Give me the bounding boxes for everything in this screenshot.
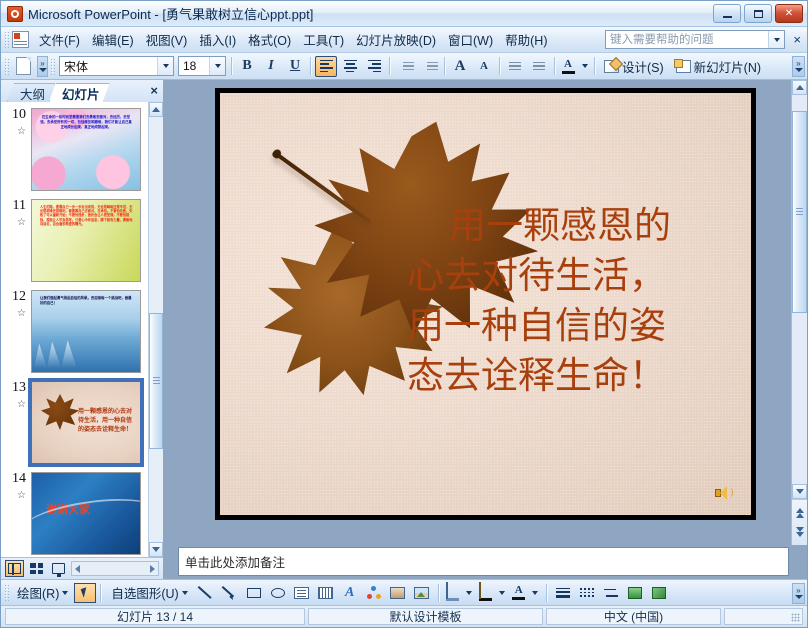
diagram-tool-button[interactable] [363,582,385,603]
rectangle-icon [247,588,261,598]
slide-thumbnail-list[interactable]: 10 ☆ 在生命的一段时间里需要我们去勇敢去面对，去经历，去坚强，去承受所有的一… [1,102,163,557]
next-slide-button[interactable] [796,527,804,537]
draw-menu-button[interactable]: 绘图(R) [11,580,74,605]
oval-icon [271,588,285,598]
slide-number: 10 ☆ [3,108,31,139]
animation-icon: ☆ [3,398,26,412]
font-dropdown-icon[interactable] [157,57,173,75]
separator [554,57,555,75]
3d-style-button[interactable] [648,582,670,603]
thumbnail-text: 谢谢大家 [46,501,90,517]
powerpoint-window: Microsoft PowerPoint - [勇气果敢树立信心ppt.ppt]… [0,0,808,628]
draw-menu-label: 绘图(R) [17,583,59,602]
font-color-dropdown[interactable] [579,56,590,77]
separator [310,57,311,75]
new-slide-button[interactable]: 新幻灯片(N) [670,54,767,79]
line-tool-button[interactable] [195,582,217,603]
shadow-style-button[interactable] [624,582,646,603]
close-pane-icon[interactable]: × [150,83,158,98]
thumbnail-text: 用一颗感恩的心去对待生活，用一种自信的姿态去诠释生命！ [78,408,136,435]
font-name-value: 宋体 [60,58,157,75]
thumbnail-item-11[interactable]: 11 ☆ 人生的路，要靠自己一步一步走出来的，无论是崎岖还是平坦，无论是艰难还是… [1,199,148,282]
ask-a-question-input[interactable] [606,31,768,48]
view-normal-button[interactable] [5,560,24,577]
font-size-dropdown-icon[interactable] [209,57,225,75]
fill-color-icon [446,584,460,601]
design-button[interactable]: 设计(S) [598,54,670,79]
wordart-tool-button[interactable]: A [339,582,361,603]
workspace: 大纲 幻灯片 × 10 ☆ 在生命的一段时间里需要我们去勇敢去面对，去经历，去坚… [1,80,807,579]
autoshapes-button[interactable]: 自选图形(U) [105,580,193,605]
animation-icon: ☆ [3,307,26,321]
toolbar-grip-1[interactable] [4,58,9,75]
drawing-toolbar-options[interactable]: » [792,583,805,604]
status-language: 中文 (中国) [546,608,721,625]
numbering-icon [399,62,412,71]
powerpoint-icon [7,6,23,22]
menu-edit[interactable]: 编辑(E) [86,27,140,52]
dash-style-button[interactable] [576,582,598,603]
close-button[interactable]: ✕ [775,4,803,23]
bullets-icon [423,62,436,71]
menu-grip[interactable] [4,31,9,48]
menu-help[interactable]: 帮助(H) [499,27,553,52]
underline-button[interactable]: U [284,56,306,77]
thumbnail-art: 人生的路，要靠自己一步一步走出来的，无论是崎岖还是平坦，无论是艰难还是顺利，都要… [32,200,140,281]
slide-number: 11 ☆ [3,199,31,230]
separator [389,57,390,75]
menu-window[interactable]: 窗口(W) [442,27,499,52]
window-title: Microsoft PowerPoint - [勇气果敢树立信心ppt.ppt] [28,4,713,23]
menu-slideshow[interactable]: 幻灯片放映(D) [350,27,442,52]
slide-nav-buttons [792,499,807,545]
numbering-button[interactable] [394,56,416,77]
thumbnail-art: 让我们鼓起勇气扬起自信的风帆，去迎接每一个挑战吧，做最好的自己！ [32,291,140,372]
menu-view[interactable]: 视图(V) [140,27,194,52]
chevron-down-icon [182,591,188,595]
thumbnail-art: 在生命的一段时间里需要我们去勇敢去面对，去经历，去坚强，去承受所有的一切，包括痛… [32,109,140,190]
rectangle-tool-button[interactable] [243,582,265,603]
toolbar-options-1[interactable]: » [37,56,48,77]
thumbnail-item-12[interactable]: 12 ☆ 让我们鼓起勇气扬起自信的风帆，去迎接每一个挑战吧，做最好的自己！ [1,290,148,373]
slide-vertical-scrollbar[interactable] [791,80,807,545]
bullets-button[interactable] [418,56,440,77]
tab-outline[interactable]: 大纲 [7,83,55,102]
animation-icon: ☆ [3,489,26,503]
separator [231,57,232,75]
drawing-font-color-button[interactable]: A [510,582,528,603]
font-size-combo[interactable]: 18 [178,56,226,76]
font-color-icon: A [562,59,575,74]
wordart-icon: A [345,586,354,600]
animation-icon: ☆ [3,125,26,139]
arrow-style-icon [604,587,618,599]
status-bar: 幻灯片 13 / 14 默认设计模板 中文 (中国) [1,605,807,627]
vertical-text-box-tool-button[interactable] [315,582,337,603]
arrow-icon [223,586,236,599]
vertical-text-box-icon [318,587,333,599]
slide-scroll-thumb[interactable] [792,111,807,313]
slide-scroll-up-button[interactable] [792,80,807,95]
slide-number: 13 ☆ [3,381,31,412]
new-slide-icon [676,60,691,73]
font-color-icon: A [512,585,525,600]
thumbnail-frame[interactable]: 谢谢大家 [31,472,141,555]
status-template: 默认设计模板 [308,608,543,625]
decrease-font-icon: A [480,60,488,72]
drawing-toolbar-grip[interactable] [4,584,9,601]
document-icon [12,31,29,48]
slide-line-2: 心去对待生活， [407,251,737,301]
toolbar-options-2[interactable]: » [792,56,805,77]
align-left-icon [320,60,333,72]
formatting-toolbar: » 宋体 18 B I U [1,53,807,80]
previous-slide-button[interactable] [796,508,804,518]
decrease-indent-icon [509,62,522,71]
autoshapes-label: 自选图形(U) [111,583,178,602]
separator [499,57,500,75]
view-slide-show-button[interactable] [49,560,68,577]
notes-pane: 单击此处添加备注 [164,545,807,579]
increase-font-icon: A [455,58,466,75]
separator [444,57,445,75]
fill-color-button[interactable] [444,582,462,603]
slide-text-block[interactable]: 用一颗感恩的 心去对待生活， 用一种自信的姿 态去诠释生命！ [407,201,737,401]
slide-scroll-down-button[interactable] [792,484,807,499]
pane-tabs: 大纲 幻灯片 × [1,80,163,102]
slide-sorter-icon [30,563,43,574]
arrow-style-button[interactable] [600,582,622,603]
status-resize-grip[interactable] [724,608,803,625]
speaker-icon[interactable] [715,485,733,501]
notes-input[interactable]: 单击此处添加备注 [178,547,789,576]
design-icon [604,60,619,73]
menu-bar: 文件(F) 编辑(E) 视图(V) 插入(I) 格式(O) 工具(T) 幻灯片放… [1,27,807,53]
menu-format[interactable]: 格式(O) [242,27,297,52]
align-right-button[interactable] [363,56,385,77]
line-color-icon [479,584,493,601]
line-style-icon [556,588,570,598]
thumbnail-text: 让我们鼓起勇气扬起自信的风帆，去迎接每一个挑战吧，做最好的自己！ [40,296,134,305]
current-slide[interactable]: 用一颗感恩的 心去对待生活， 用一种自信的姿 态去诠释生命！ [215,88,756,520]
menu-insert[interactable]: 插入(I) [193,27,242,52]
slide-number: 14 ☆ [3,472,31,503]
align-center-icon [344,60,357,72]
close-askbox-icon[interactable]: × [793,32,801,47]
decrease-font-size-button[interactable]: A [473,56,495,77]
line-color-button[interactable] [477,582,495,603]
maximize-button[interactable] [744,4,772,23]
thumbnail-item-10[interactable]: 10 ☆ 在生命的一段时间里需要我们去勇敢去面对，去经历，去坚强，去承受所有的一… [1,108,148,191]
toolbar-grip-2[interactable] [50,58,55,75]
window-controls: ✕ [713,4,803,23]
leaf-icon [41,394,79,430]
separator [438,584,439,602]
scroll-track[interactable] [149,117,163,542]
3d-style-icon [652,587,666,599]
center-column: 用一颗感恩的 心去对待生活， 用一种自信的姿 态去诠释生命！ [164,80,807,579]
animation-icon: ☆ [3,216,26,230]
picture-tool-button[interactable] [411,582,433,603]
align-center-button[interactable] [339,56,361,77]
menu-file[interactable]: 文件(F) [33,27,86,52]
thumbnail-item-14[interactable]: 14 ☆ 谢谢大家 [1,472,148,555]
font-size-value: 18 [179,59,209,73]
separator [546,584,547,602]
title-bar: Microsoft PowerPoint - [勇气果敢树立信心ppt.ppt]… [1,1,807,27]
slide-line-4: 态去诠释生命！ [407,351,737,401]
fill-color-dropdown[interactable] [464,582,475,603]
text-box-icon [294,587,309,599]
thumbnail-frame[interactable]: 用一颗感恩的心去对待生活，用一种自信的姿态去诠释生命！ [31,381,141,464]
thumbnail-column: 10 ☆ 在生命的一段时间里需要我们去勇敢去面对，去经历，去坚强，去承受所有的一… [1,102,148,557]
slide-line-3: 用一种自信的姿 [407,301,737,351]
arrow-tool-button[interactable] [219,582,241,603]
slide-number: 12 ☆ [3,290,31,321]
line-color-dropdown[interactable] [497,582,508,603]
slide-scroll-track[interactable] [792,95,807,484]
drawing-font-color-dropdown[interactable] [530,582,541,603]
decrease-indent-button[interactable] [504,56,526,77]
thumbnail-frame[interactable]: 在生命的一段时间里需要我们去勇敢去面对，去经历，去坚强，去承受所有的一切，包括痛… [31,108,141,191]
separator [100,584,101,602]
scroll-up-button[interactable] [149,102,163,117]
cursor-icon [81,587,90,598]
thumbnail-text: 在生命的一段时间里需要我们去勇敢去面对，去经历，去坚强，去承受所有的一切，包括痛… [40,115,132,130]
font-color-button[interactable]: A [559,56,577,77]
drawing-toolbar: 绘图(R) 自选图形(U) A [1,579,807,605]
line-icon [199,586,212,599]
ask-dropdown-icon[interactable] [768,31,784,48]
slide-line-1: 用一颗感恩的 [407,201,737,251]
oval-tool-button[interactable] [267,582,289,603]
thumbnail-item-13[interactable]: 13 ☆ 用一颗感恩的心去对待生活，用一种自信的姿态去诠释生命！ [1,381,148,464]
view-slide-sorter-button[interactable] [27,560,46,577]
italic-button[interactable]: I [260,56,282,77]
text-box-tool-button[interactable] [291,582,313,603]
view-mode-bar [1,557,163,579]
outline-horizontal-scrollbar[interactable] [71,561,159,576]
minimize-button[interactable] [713,4,741,23]
clipart-icon [390,587,405,599]
dash-style-icon [580,588,594,597]
normal-view-icon [8,563,21,574]
new-document-icon[interactable] [12,56,34,77]
chevron-down-icon [62,591,68,595]
new-slide-label: 新幻灯片(N) [694,57,761,76]
thumbnail-frame[interactable]: 让我们鼓起勇气扬起自信的风帆，去迎接每一个挑战吧，做最好的自己！ [31,290,141,373]
clipart-tool-button[interactable] [387,582,409,603]
shadow-style-icon [628,587,642,599]
align-left-button[interactable] [315,56,337,77]
ask-a-question-box[interactable] [605,30,785,49]
bold-button[interactable]: B [236,56,258,77]
increase-indent-button[interactable] [528,56,550,77]
thumbnail-art: 谢谢大家 [32,473,140,554]
thumbnail-art: 用一颗感恩的心去对待生活，用一种自信的姿态去诠释生命！ [32,382,140,463]
line-style-button[interactable] [552,582,574,603]
slide-editing-area[interactable]: 用一颗感恩的 心去对待生活， 用一种自信的姿 态去诠释生命！ [164,80,807,545]
slide-show-icon [52,563,65,574]
separator [594,57,595,75]
diagram-icon [367,586,381,599]
picture-icon [414,587,429,599]
thumbnail-scrollbar[interactable] [148,102,163,557]
tab-slides[interactable]: 幻灯片 [49,83,110,102]
menu-tools[interactable]: 工具(T) [297,27,350,52]
font-combo[interactable]: 宋体 [59,56,174,76]
increase-font-size-button[interactable]: A [449,56,471,77]
scroll-thumb[interactable] [149,313,163,449]
scroll-down-button[interactable] [149,542,163,557]
status-slide-info: 幻灯片 13 / 14 [5,608,305,625]
increase-indent-icon [533,62,546,71]
thumbnail-text: 人生的路，要靠自己一步一步走出来的，无论是崎岖还是平坦，无论是艰难还是顺利，都要… [40,205,134,277]
align-right-icon [368,60,381,72]
select-objects-button[interactable] [74,583,96,603]
left-pane: 大纲 幻灯片 × 10 ☆ 在生命的一段时间里需要我们去勇敢去面对，去经历，去坚… [1,80,164,579]
design-label: 设计(S) [622,57,664,76]
thumbnail-frame[interactable]: 人生的路，要靠自己一步一步走出来的，无论是崎岖还是平坦，无论是艰难还是顺利，都要… [31,199,141,282]
